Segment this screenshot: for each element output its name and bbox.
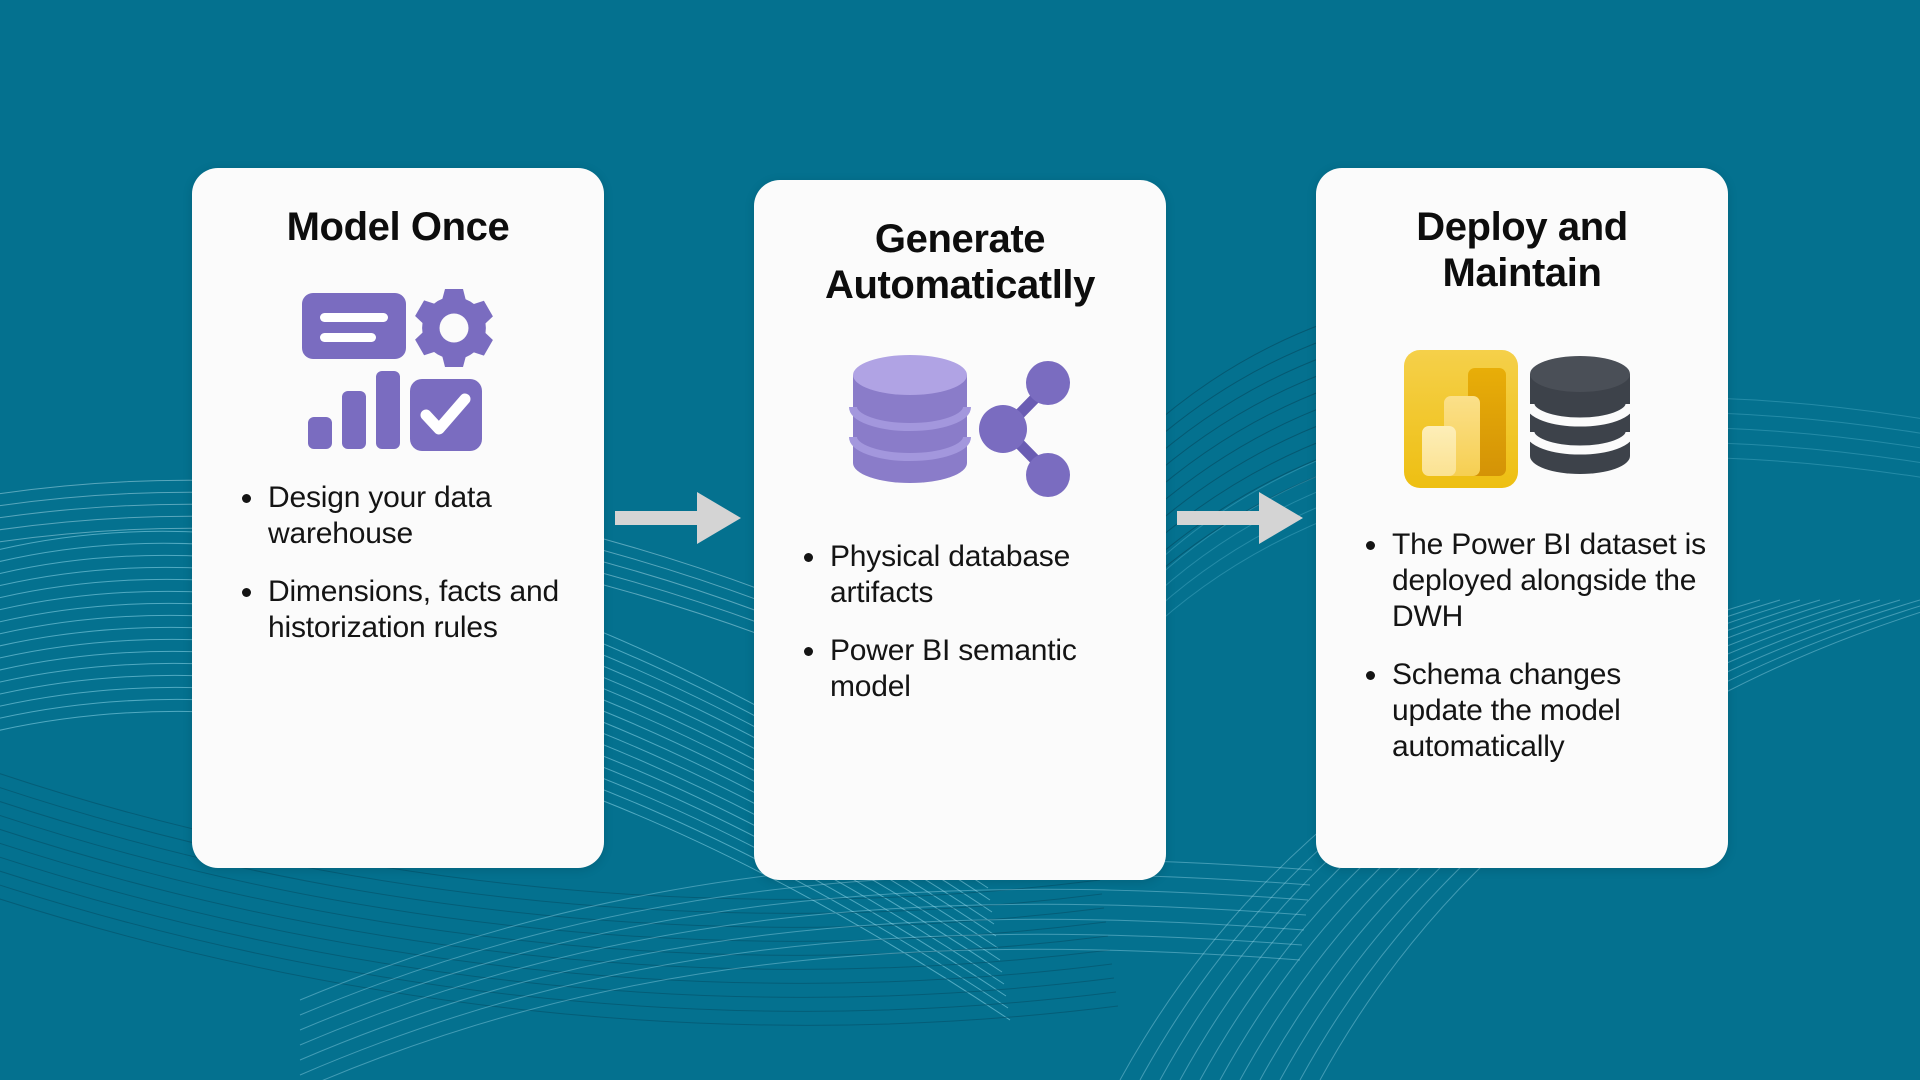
card-bullet-list: Design your data warehouse Dimensions, f… [208,480,588,668]
list-item: Dimensions, facts and historization rule… [234,574,582,646]
list-item: The Power BI dataset is deployed alongsi… [1358,527,1706,635]
card-title: Generate Automaticatlly [790,216,1130,309]
card-bullet-list: Physical database artifacts Power BI sem… [770,539,1150,727]
list-item: Design your data warehouse [234,480,582,552]
list-item: Power BI semantic model [796,633,1144,705]
card-title: Model Once [287,204,510,250]
card-title: Deploy and Maintain [1352,204,1692,297]
arrow-gap-1 [604,168,754,868]
card-deploy-and-maintain[interactable]: Deploy and Maintain [1316,168,1728,868]
card-bullet-list: The Power BI dataset is deployed alongsi… [1332,527,1712,787]
card-generate-automatically[interactable]: Generate Automaticatlly [754,180,1166,880]
arrow-right-icon [1177,488,1305,548]
dashboard-gear-chart-check-icon [298,282,498,462]
card-model-once[interactable]: Model Once [192,168,604,868]
slide-canvas: Model Once [0,0,1920,1080]
process-flow-row: Model Once [0,168,1920,880]
arrow-gap-2 [1166,168,1316,868]
powerbi-database-icon [1402,329,1642,509]
database-share-icon [845,341,1075,521]
arrow-right-icon [615,488,743,548]
list-item: Physical database artifacts [796,539,1144,611]
list-item: Schema changes update the model automati… [1358,657,1706,765]
